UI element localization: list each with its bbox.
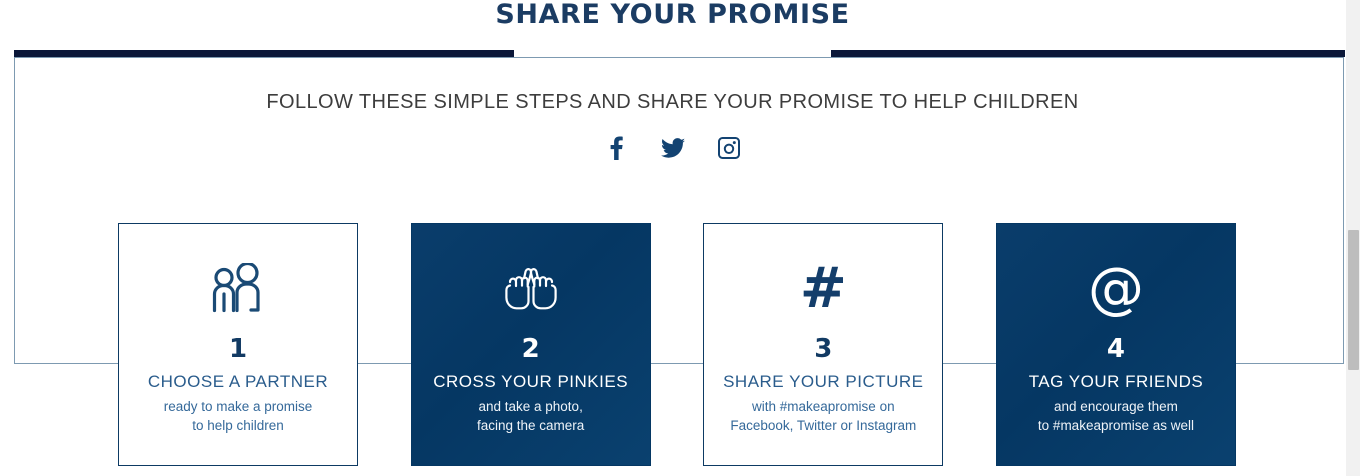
- step-description-line-1: ready to make a promise: [164, 397, 313, 416]
- step-description-line-2: to #makeapromise as well: [1038, 416, 1194, 435]
- step-description-line-2: facing the camera: [477, 416, 584, 435]
- step-description-line-2: to help children: [164, 416, 313, 435]
- step-description: with #makeapromise on Facebook, Twitter …: [722, 397, 924, 435]
- social-link-facebook[interactable]: [600, 132, 634, 164]
- step-number: 3: [814, 336, 832, 362]
- instagram-icon: [718, 137, 740, 159]
- step-description: and encourage them to #makeapromise as w…: [1030, 397, 1202, 435]
- two-people-icon: [206, 250, 270, 328]
- heading-rule-left: [14, 50, 514, 57]
- vertical-scrollbar[interactable]: [1345, 0, 1360, 476]
- step-heading: CROSS YOUR PINKIES: [433, 371, 628, 393]
- step-description-line-1: with #makeapromise on: [730, 397, 916, 416]
- step-number: 4: [1107, 336, 1125, 362]
- at-sign-glyph: @: [1088, 261, 1144, 317]
- social-links: [0, 132, 1345, 164]
- page-canvas: SHARE YOUR PROMISE FOLLOW THESE SIMPLE S…: [0, 0, 1345, 476]
- step-card-2[interactable]: 2 CROSS YOUR PINKIES and take a photo, f…: [411, 223, 651, 466]
- step-heading: TAG YOUR FRIENDS: [1029, 371, 1204, 393]
- step-card-4[interactable]: @ 4 TAG YOUR FRIENDS and encourage them …: [996, 223, 1236, 466]
- heading-rule-right: [831, 50, 1345, 57]
- step-card-3[interactable]: # 3 SHARE YOUR PICTURE with #makeapromis…: [703, 223, 943, 466]
- step-number: 1: [229, 336, 247, 362]
- step-heading: CHOOSE A PARTNER: [148, 371, 328, 393]
- step-heading: SHARE YOUR PICTURE: [723, 371, 923, 393]
- step-description-line-1: and take a photo,: [477, 397, 584, 416]
- step-description: ready to make a promise to help children: [156, 397, 321, 435]
- step-description-line-1: and encourage them: [1038, 397, 1194, 416]
- step-description: and take a photo, facing the camera: [469, 397, 592, 435]
- hashtag-glyph: #: [800, 261, 847, 317]
- twitter-icon: [661, 138, 685, 159]
- scrollbar-thumb[interactable]: [1348, 230, 1359, 370]
- hashtag-icon: #: [800, 250, 847, 328]
- social-link-twitter[interactable]: [656, 132, 690, 164]
- steps-card-row: 1 CHOOSE A PARTNER ready to make a promi…: [118, 223, 1236, 466]
- page-title: SHARE YOUR PROMISE: [0, 0, 1345, 30]
- step-card-1[interactable]: 1 CHOOSE A PARTNER ready to make a promi…: [118, 223, 358, 466]
- page-subtitle: FOLLOW THESE SIMPLE STEPS AND SHARE YOUR…: [0, 88, 1345, 116]
- step-number: 2: [522, 336, 540, 362]
- at-sign-icon: @: [1088, 250, 1144, 328]
- step-description-line-2: Facebook, Twitter or Instagram: [730, 416, 916, 435]
- social-link-instagram[interactable]: [712, 132, 746, 164]
- facebook-icon: [610, 136, 623, 160]
- crossed-pinkies-icon: [500, 250, 562, 328]
